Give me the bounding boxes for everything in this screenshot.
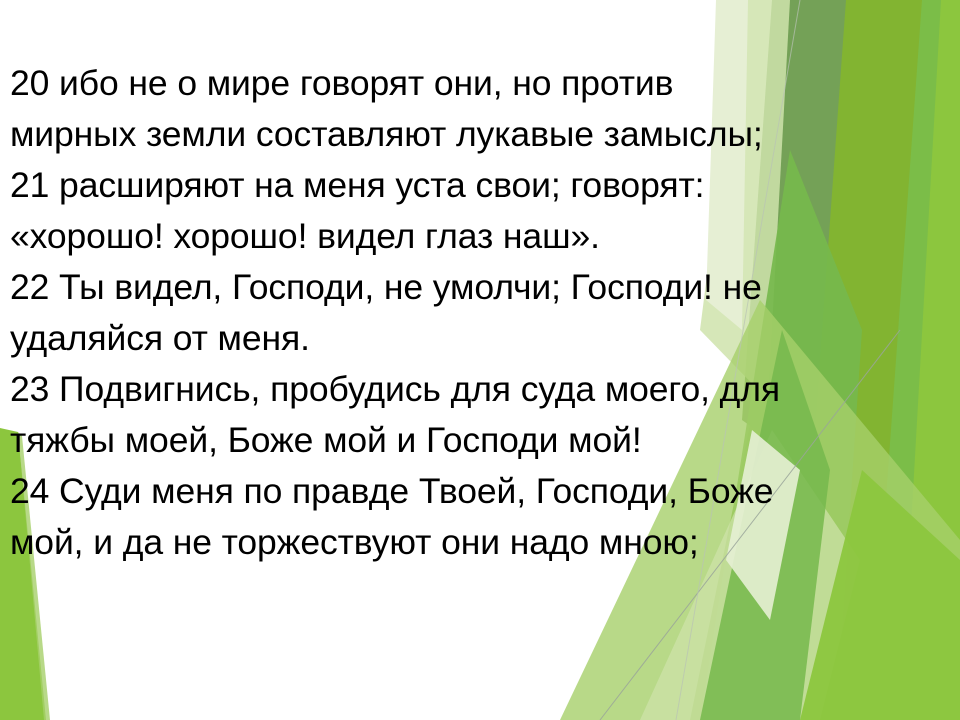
verse-line: мирных земли составляют лукавые замыслы; [10, 109, 960, 160]
verse-line: удаляйся от меня. [10, 313, 960, 364]
verse-line: 24 Суди меня по правде Твоей, Господи, Б… [10, 466, 960, 517]
presentation-slide: 20 ибо не о мире говорят они, но против … [0, 0, 960, 720]
verse-line: 22 Ты видел, Господи, не умолчи; Господи… [10, 262, 960, 313]
verse-line: 23 Подвигнись, пробудись для суда моего,… [10, 364, 960, 415]
verse-line: тяжбы моей, Боже мой и Господи мой! [10, 415, 960, 466]
verse-line: 20 ибо не о мире говорят они, но против [10, 58, 960, 109]
verse-line: 21 расширяют на меня уста свои; говорят: [10, 160, 960, 211]
scripture-text-block: 20 ибо не о мире говорят они, но против … [10, 58, 960, 568]
verse-line: мой, и да не торжествуют они надо мною; [10, 517, 960, 568]
verse-line: «хорошо! хорошо! видел глаз наш». [10, 211, 960, 262]
